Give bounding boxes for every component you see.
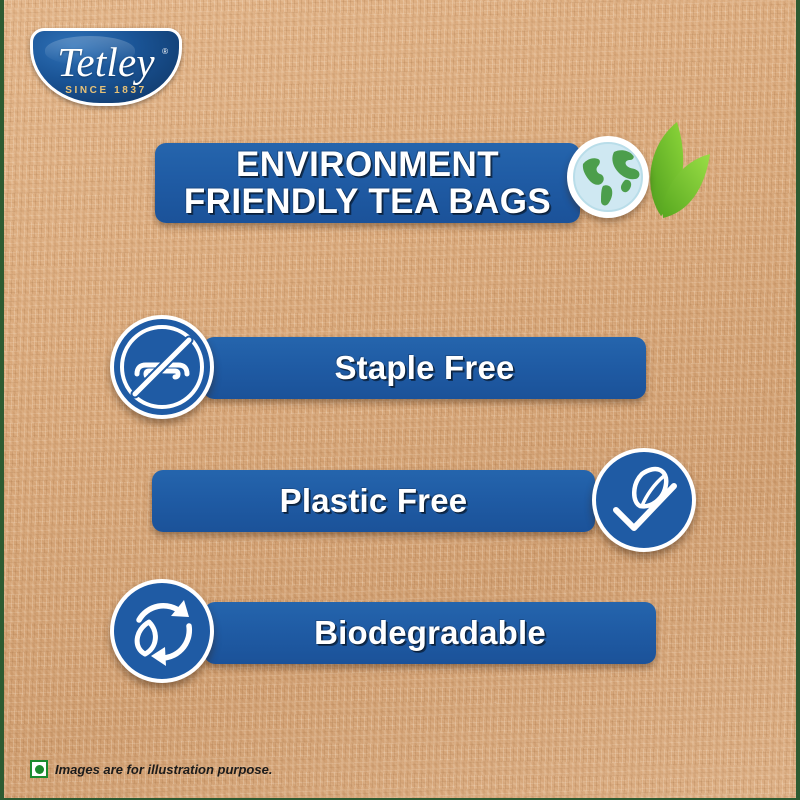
header-title-line-1: ENVIRONMENT — [236, 146, 499, 183]
registered-trademark-icon: ® — [162, 47, 168, 56]
footer-disclaimer: Images are for illustration purpose. — [30, 760, 272, 778]
header-title-line-2: FRIENDLY TEA BAGS — [184, 183, 551, 220]
tetley-logo: Tetley ® SINCE 1837 — [30, 28, 182, 106]
vegetarian-mark-icon — [30, 760, 48, 778]
vegetarian-mark-dot — [35, 765, 44, 774]
feature-label-plastic-free: Plastic Free — [280, 482, 468, 520]
logo-wordmark: Tetley — [33, 38, 179, 86]
feature-bar-staple-free: Staple Free — [203, 337, 646, 399]
feature-bar-biodegradable: Biodegradable — [204, 602, 656, 664]
globe-with-leaves-icon — [567, 118, 712, 233]
header-banner: ENVIRONMENT FRIENDLY TEA BAGS — [155, 143, 580, 223]
feature-bar-plastic-free: Plastic Free — [152, 470, 595, 532]
recycle-leaf-icon — [110, 579, 214, 683]
logo-tagline: SINCE 1837 — [33, 85, 179, 96]
feature-label-biodegradable: Biodegradable — [314, 614, 546, 652]
footer-note-text: Images are for illustration purpose. — [55, 762, 272, 777]
logo-shield-shape: Tetley ® SINCE 1837 — [30, 28, 182, 106]
infographic-canvas: Tetley ® SINCE 1837 ENVIRONMENT FRIENDLY… — [0, 0, 800, 800]
feature-label-staple-free: Staple Free — [334, 349, 514, 387]
no-staple-icon — [110, 315, 214, 419]
leaf-check-icon — [592, 448, 696, 552]
globe-icon — [567, 136, 649, 218]
